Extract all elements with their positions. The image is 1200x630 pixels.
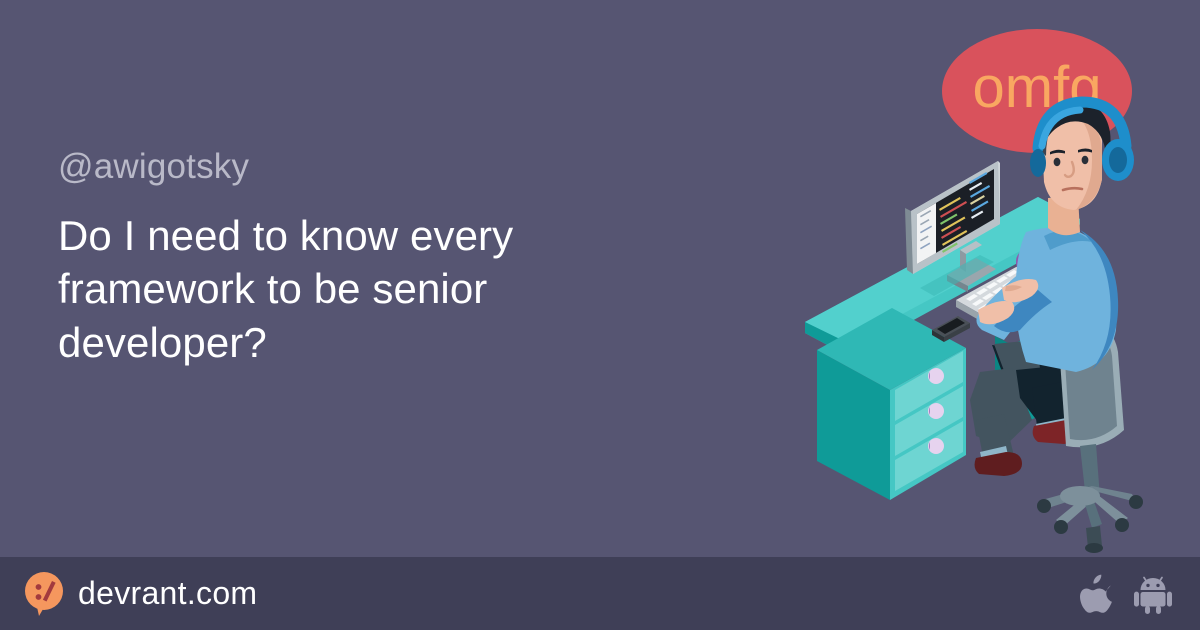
developer-at-desk-illustration: omfg xyxy=(780,0,1200,560)
store-badges xyxy=(1079,574,1172,614)
drawer-knob[interactable] xyxy=(928,403,944,419)
android-icon[interactable] xyxy=(1134,574,1172,614)
apple-icon[interactable] xyxy=(1079,574,1112,614)
post-username[interactable]: @awigotsky xyxy=(58,148,678,187)
brand-link[interactable]: devrant.com xyxy=(24,572,257,616)
devrant-post-card: @awigotsky Do I need to know every frame… xyxy=(0,0,1200,630)
brand-name-text: devrant.com xyxy=(78,575,257,612)
devrant-logo-icon xyxy=(24,572,64,616)
post-text-block: @awigotsky Do I need to know every frame… xyxy=(58,148,678,370)
drawer-knob[interactable] xyxy=(928,438,944,454)
post-body-line-1: Do I need to know every xyxy=(58,209,678,263)
post-body: Do I need to know every framework to be … xyxy=(58,209,678,370)
drawer-knob[interactable] xyxy=(928,368,944,384)
post-body-line-2: framework to be senior xyxy=(58,262,678,316)
footer-bar: devrant.com xyxy=(0,557,1200,630)
smartphone[interactable] xyxy=(932,316,970,342)
post-body-line-3: developer? xyxy=(58,316,678,370)
